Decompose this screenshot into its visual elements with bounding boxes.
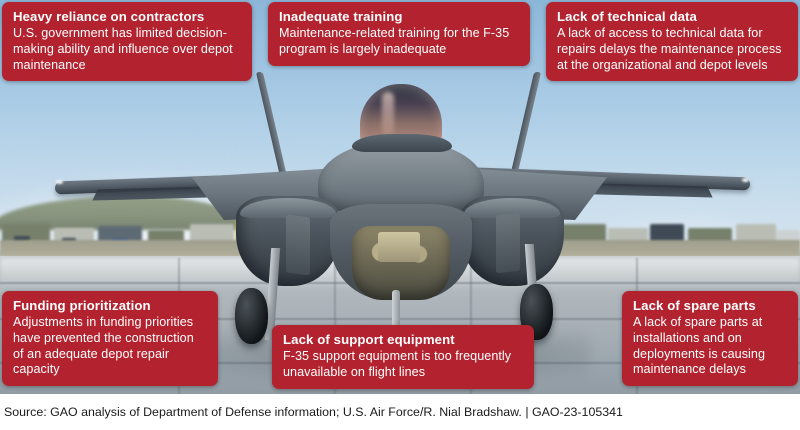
callout-lack-of-technical-data: Lack of technical data A lack of access … bbox=[546, 2, 798, 81]
wingtip-light-left bbox=[56, 180, 63, 184]
callout-title: Inadequate training bbox=[279, 9, 519, 25]
source-line: Source: GAO analysis of Department of De… bbox=[0, 405, 623, 419]
callout-body: A lack of access to technical data for r… bbox=[557, 26, 787, 73]
callout-body: A lack of spare parts at installations a… bbox=[633, 315, 787, 377]
callout-body: F-35 support equipment is too frequently… bbox=[283, 349, 523, 380]
main-gear-door-right bbox=[496, 213, 520, 274]
callout-body: Adjustments in funding priorities have p… bbox=[13, 315, 207, 377]
callout-title: Lack of technical data bbox=[557, 9, 787, 25]
bay-panel bbox=[378, 232, 420, 262]
canopy-reflection bbox=[382, 92, 394, 136]
f35-photograph: Heavy reliance on contractors U.S. gover… bbox=[0, 0, 800, 394]
callout-heavy-reliance-on-contractors: Heavy reliance on contractors U.S. gover… bbox=[2, 2, 252, 81]
callout-title: Lack of spare parts bbox=[633, 298, 787, 314]
main-wheel-left bbox=[235, 288, 268, 344]
wingtip-light-right bbox=[742, 178, 749, 182]
main-gear-door-left bbox=[286, 215, 310, 276]
callout-funding-prioritization: Funding prioritization Adjustments in fu… bbox=[2, 291, 218, 386]
canopy-frame bbox=[352, 134, 452, 152]
vertical-stabilizer-right bbox=[510, 72, 541, 177]
callout-inadequate-training: Inadequate training Maintenance-related … bbox=[268, 2, 530, 66]
callout-title: Lack of support equipment bbox=[283, 332, 523, 348]
callout-body: U.S. government has limited decision-mak… bbox=[13, 26, 241, 73]
callout-lack-of-support-equipment: Lack of support equipment F-35 support e… bbox=[272, 325, 534, 389]
vertical-stabilizer-left bbox=[256, 72, 287, 177]
callout-title: Funding prioritization bbox=[13, 298, 207, 314]
callout-body: Maintenance-related training for the F-3… bbox=[279, 26, 519, 57]
callout-lack-of-spare-parts: Lack of spare parts A lack of spare part… bbox=[622, 291, 798, 386]
gao-infographic: Heavy reliance on contractors U.S. gover… bbox=[0, 0, 800, 430]
source-bar: Source: GAO analysis of Department of De… bbox=[0, 394, 800, 430]
callout-title: Heavy reliance on contractors bbox=[13, 9, 241, 25]
